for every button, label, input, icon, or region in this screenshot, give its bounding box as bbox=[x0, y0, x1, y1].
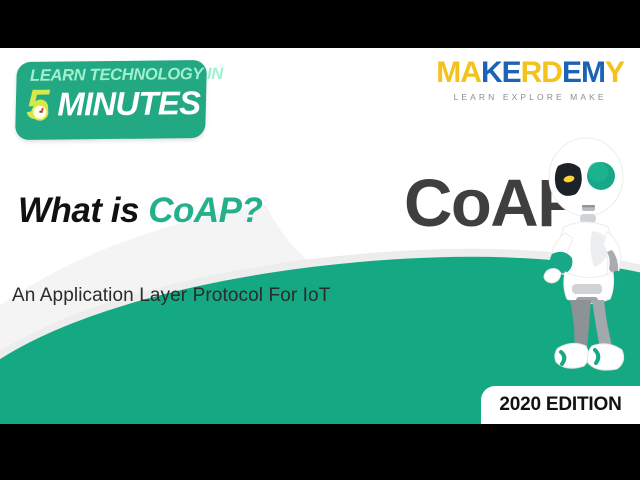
page-title: What is CoAP? bbox=[18, 193, 262, 228]
brand-tagline: LEARN EXPLORE MAKE bbox=[436, 92, 624, 102]
title-accent-part: CoAP? bbox=[148, 191, 262, 230]
brand-letter: E bbox=[502, 58, 521, 88]
brand-letter: D bbox=[541, 58, 562, 88]
brand-letter: K bbox=[481, 58, 502, 88]
robot-illustration bbox=[528, 132, 640, 392]
brand-letter: Y bbox=[605, 58, 624, 88]
badge-number-five: 5 bbox=[26, 85, 56, 124]
makerdemy-wordmark: MAKERDEMY bbox=[436, 58, 624, 88]
title-plain-part: What is bbox=[18, 191, 148, 230]
learn-technology-badge: LEARN TECHNOLOGY IN 5 MINUTES bbox=[15, 60, 207, 140]
badge-duration-row: 5 MINUTES bbox=[26, 84, 206, 124]
badge-minutes-label: MINUTES bbox=[57, 86, 200, 120]
brand-letter: E bbox=[562, 58, 581, 88]
edition-label: 2020 EDITION bbox=[499, 394, 621, 416]
badge-tagline: LEARN TECHNOLOGY IN bbox=[30, 66, 206, 84]
letterbox-bottom bbox=[0, 424, 640, 480]
brand-letter: M bbox=[436, 58, 460, 88]
slide-canvas: LEARN TECHNOLOGY IN 5 MINUTES MAKERDEMY … bbox=[0, 48, 640, 424]
brand-letter: A bbox=[460, 58, 481, 88]
video-frame: LEARN TECHNOLOGY IN 5 MINUTES MAKERDEMY … bbox=[0, 0, 640, 480]
brand-letter: M bbox=[581, 58, 605, 88]
page-subtitle: An Application Layer Protocol For IoT bbox=[12, 285, 330, 307]
edition-badge: 2020 EDITION bbox=[481, 386, 640, 424]
letterbox-top bbox=[0, 0, 640, 48]
brand-letter: R bbox=[521, 58, 542, 88]
makerdemy-logo: MAKERDEMY LEARN EXPLORE MAKE bbox=[436, 58, 624, 102]
